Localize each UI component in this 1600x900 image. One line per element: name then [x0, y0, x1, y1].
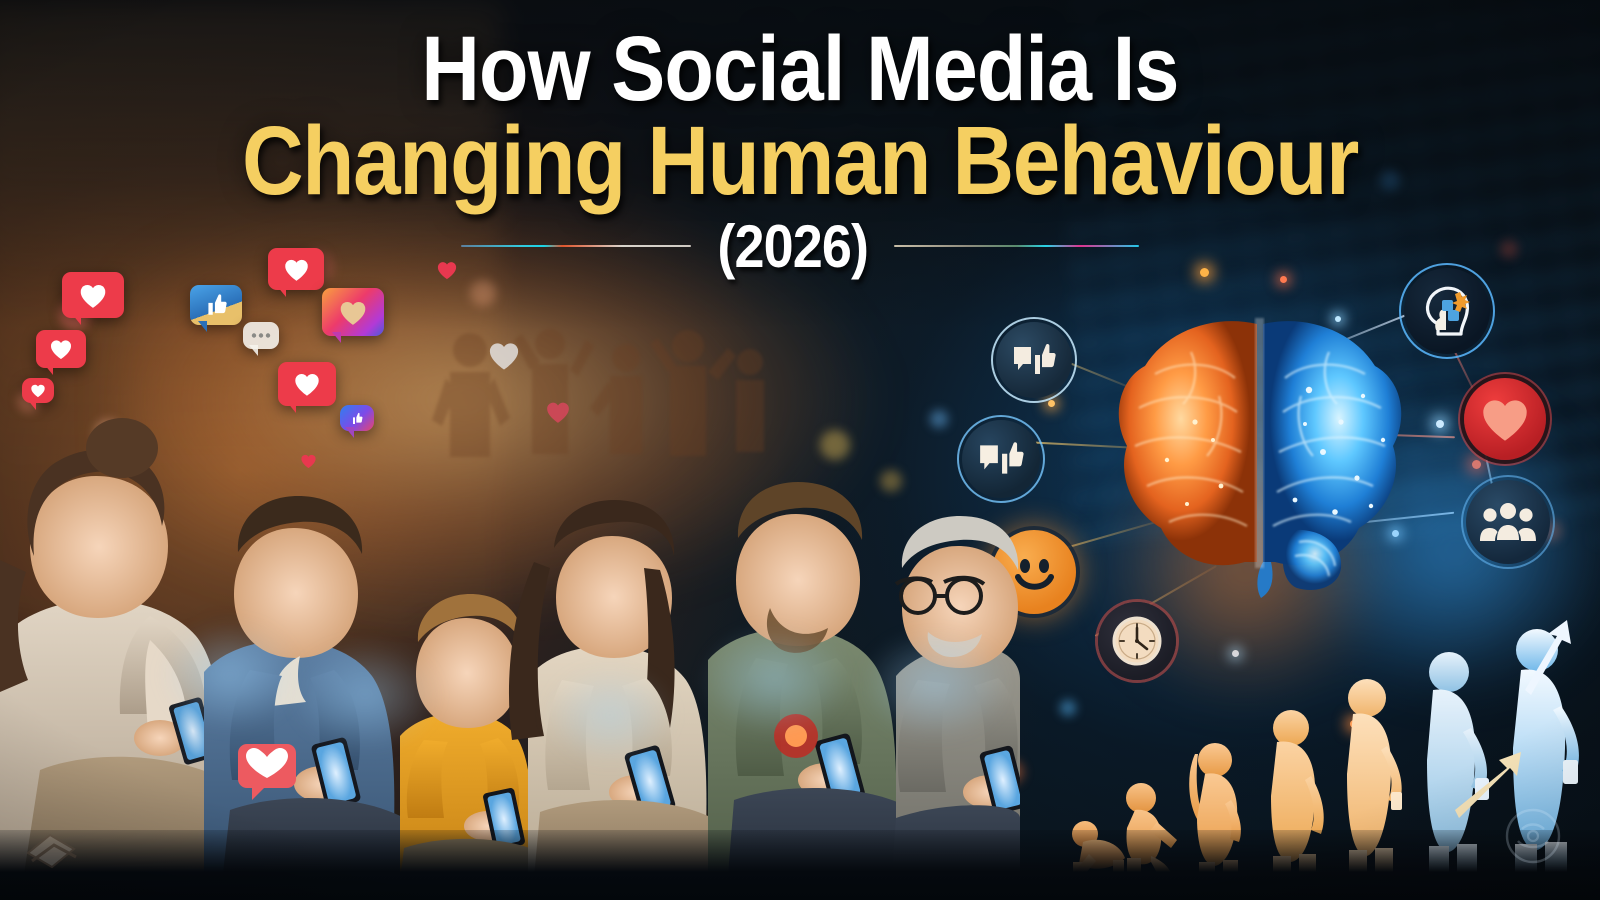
evo-phone	[1563, 760, 1578, 784]
circular-logo-icon	[1504, 807, 1562, 865]
split-hemisphere-brain	[1095, 300, 1425, 600]
group-people-icon	[1466, 480, 1550, 564]
heart-icon	[78, 282, 108, 309]
phone-glow	[160, 620, 300, 730]
title-year-row: (2026)	[0, 212, 1600, 281]
mind-puzzle-icon	[1404, 268, 1490, 354]
ground-shadow	[0, 830, 1600, 900]
network-spark	[1048, 400, 1055, 407]
heart-glyph	[1479, 395, 1531, 443]
title-line-1: How Social Media Is	[96, 26, 1504, 112]
layers-logo-watermark	[22, 827, 80, 878]
circular-logo-watermark	[1504, 807, 1562, 870]
phone-glow	[700, 625, 850, 735]
layers-icon	[22, 827, 80, 873]
phone-glow	[860, 630, 1010, 740]
node-ring	[1461, 475, 1555, 569]
people-row	[0, 340, 1020, 900]
seated-people-illustration	[0, 340, 1020, 900]
brain-illustration	[1095, 300, 1425, 600]
dots-icon	[251, 332, 271, 339]
thumbs-up-bubble	[190, 285, 242, 325]
instagram-heart-bubble	[322, 288, 384, 336]
title-line-3: (2026)	[717, 212, 868, 281]
gradient-rule-left	[461, 245, 691, 248]
phone-glow	[290, 640, 440, 750]
phone-glow	[545, 665, 675, 765]
title-block: How Social Media Is Changing Human Behav…	[0, 26, 1600, 281]
heart-icon	[1464, 378, 1546, 460]
title-line-2: Changing Human Behaviour	[96, 114, 1504, 207]
gradient-rule-right	[894, 245, 1139, 248]
hero-banner: How Social Media Is Changing Human Behav…	[0, 0, 1600, 900]
heart-icon	[338, 299, 368, 326]
thumbs-up-icon	[203, 292, 229, 318]
